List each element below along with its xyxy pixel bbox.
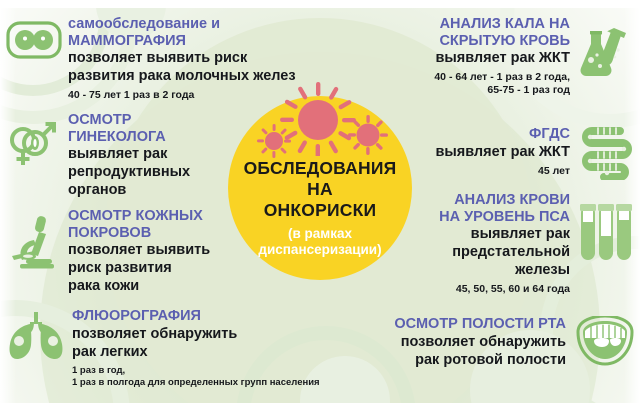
item-title-line-2: ГИНЕКОЛОГА [68, 129, 190, 146]
item-title-line-1: ОСМОТР КОЖНЫХ [68, 208, 210, 225]
item-meta-line-2: 65-75 - 1 раз год [434, 84, 570, 97]
item-meta-line-1: 40 - 75 лет 1 раз в 2 года [68, 89, 296, 102]
item-title-line-2: СКРЫТУЮ КРОВЬ [434, 33, 570, 50]
item-meta-line-2: 1 раз в полгода для определенных групп н… [72, 377, 320, 390]
item-desc-line-2: рак ротовой полости [394, 352, 566, 369]
item-desc-line-1: позволяет выявить риск [68, 50, 296, 67]
top-white-band [0, 0, 640, 8]
item-desc-line-3: рака кожи [68, 278, 210, 295]
item-text-block: АНАЛИЗ КАЛА НА СКРЫТУЮ КРОВЬ выявляет ра… [434, 16, 570, 97]
item-title-line-1: ОСМОТР [68, 112, 190, 129]
mouth-icon [574, 316, 636, 368]
lungs-icon [6, 310, 66, 360]
item-desc-line-3: железы [439, 262, 570, 279]
item-title-line-1: ОСМОТР ПОЛОСТИ РТА [394, 316, 566, 333]
item-text-block: АНАЛИЗ КРОВИ НА УРОВЕНЬ ПСА выявляет рак… [439, 192, 570, 296]
item-desc-line-1: выявляет рак ЖКТ [434, 50, 570, 67]
infographic-poster: ОБСЛЕДОВАНИЯ НА ОНКОРИСКИ (в рамках дисп… [0, 0, 640, 413]
item-skin-exam: ОСМОТР КОЖНЫХ ПОКРОВОВ позволяет выявить… [6, 208, 306, 295]
test-tubes-icon [578, 202, 636, 264]
item-desc-line-2: предстательной [439, 244, 570, 261]
item-breast-self-exam: самообследование и МАММОГРАФИЯ позволяет… [6, 16, 366, 102]
item-desc-line-1: позволяет выявить [68, 242, 210, 259]
item-text-block: ОСМОТР ГИНЕКОЛОГА выявляет рак репродукт… [68, 112, 190, 199]
breast-self-exam-icon [6, 18, 62, 62]
item-meta-line-1: 40 - 64 лет - 1 раз в 2 года, [434, 71, 570, 84]
item-text-block: ФГДС выявляет рак ЖКТ 45 лет [435, 126, 570, 178]
item-desc-line-2: риск развития [68, 260, 210, 277]
flasks-icon [578, 22, 636, 80]
item-title-line-1: АНАЛИЗ КРОВИ [439, 192, 570, 209]
item-fecal-occult-blood-test: АНАЛИЗ КАЛА НА СКРЫТУЮ КРОВЬ выявляет ра… [356, 16, 636, 97]
item-desc-line-1: позволяет обнаружить [72, 326, 320, 343]
gender-symbols-icon [6, 116, 62, 172]
item-title-line-1: ФЛЮОРОГРАФИЯ [72, 308, 320, 325]
item-meta-line-1: 45 лет [435, 165, 570, 178]
item-desc-line-2: развития рака молочных желез [68, 68, 296, 85]
item-desc-line-3: органов [68, 182, 190, 199]
item-title-line-1: самообследование и [68, 16, 296, 33]
item-meta-line-1: 45, 50, 55, 60 и 64 года [439, 283, 570, 296]
item-egds: ФГДС выявляет рак ЖКТ 45 лет [386, 126, 636, 180]
item-desc-line-2: рак легких [72, 344, 320, 361]
item-desc-line-1: выявляет рак [439, 226, 570, 243]
item-title-line-1: ФГДС [435, 126, 570, 143]
virus-germ-icon-medium [346, 112, 390, 156]
item-text-block: ФЛЮОРОГРАФИЯ позволяет обнаружить рак ле… [72, 308, 320, 390]
item-gynecologist-exam: ОСМОТР ГИНЕКОЛОГА выявляет рак репродукт… [6, 112, 306, 199]
item-title-line-2: НА УРОВЕНЬ ПСА [439, 209, 570, 226]
item-title-line-2: ПОКРОВОВ [68, 225, 210, 242]
item-fluorography: ФЛЮОРОГРАФИЯ позволяет обнаружить рак ле… [6, 308, 386, 390]
bottom-white-band [0, 403, 640, 413]
item-psa-blood-test: АНАЛИЗ КРОВИ НА УРОВЕНЬ ПСА выявляет рак… [376, 192, 636, 296]
microscope-icon [6, 212, 62, 270]
item-text-block: ОСМОТР КОЖНЫХ ПОКРОВОВ позволяет выявить… [68, 208, 210, 295]
item-meta-line-1: 1 раз в год, [72, 365, 320, 378]
item-text-block: самообследование и МАММОГРАФИЯ позволяет… [68, 16, 296, 102]
item-title-line-1: АНАЛИЗ КАЛА НА [434, 16, 570, 33]
item-text-block: ОСМОТР ПОЛОСТИ РТА позволяет обнаружить … [394, 316, 566, 369]
item-title-line-2: МАММОГРАФИЯ [68, 33, 296, 50]
item-oral-cavity-exam: ОСМОТР ПОЛОСТИ РТА позволяет обнаружить … [336, 316, 636, 369]
item-desc-line-1: выявляет рак [68, 146, 190, 163]
item-desc-line-2: репродуктивных [68, 164, 190, 181]
item-desc-line-1: позволяет обнаружить [394, 334, 566, 351]
intestine-icon [578, 126, 636, 180]
item-desc-line-1: выявляет рак ЖКТ [435, 144, 570, 161]
